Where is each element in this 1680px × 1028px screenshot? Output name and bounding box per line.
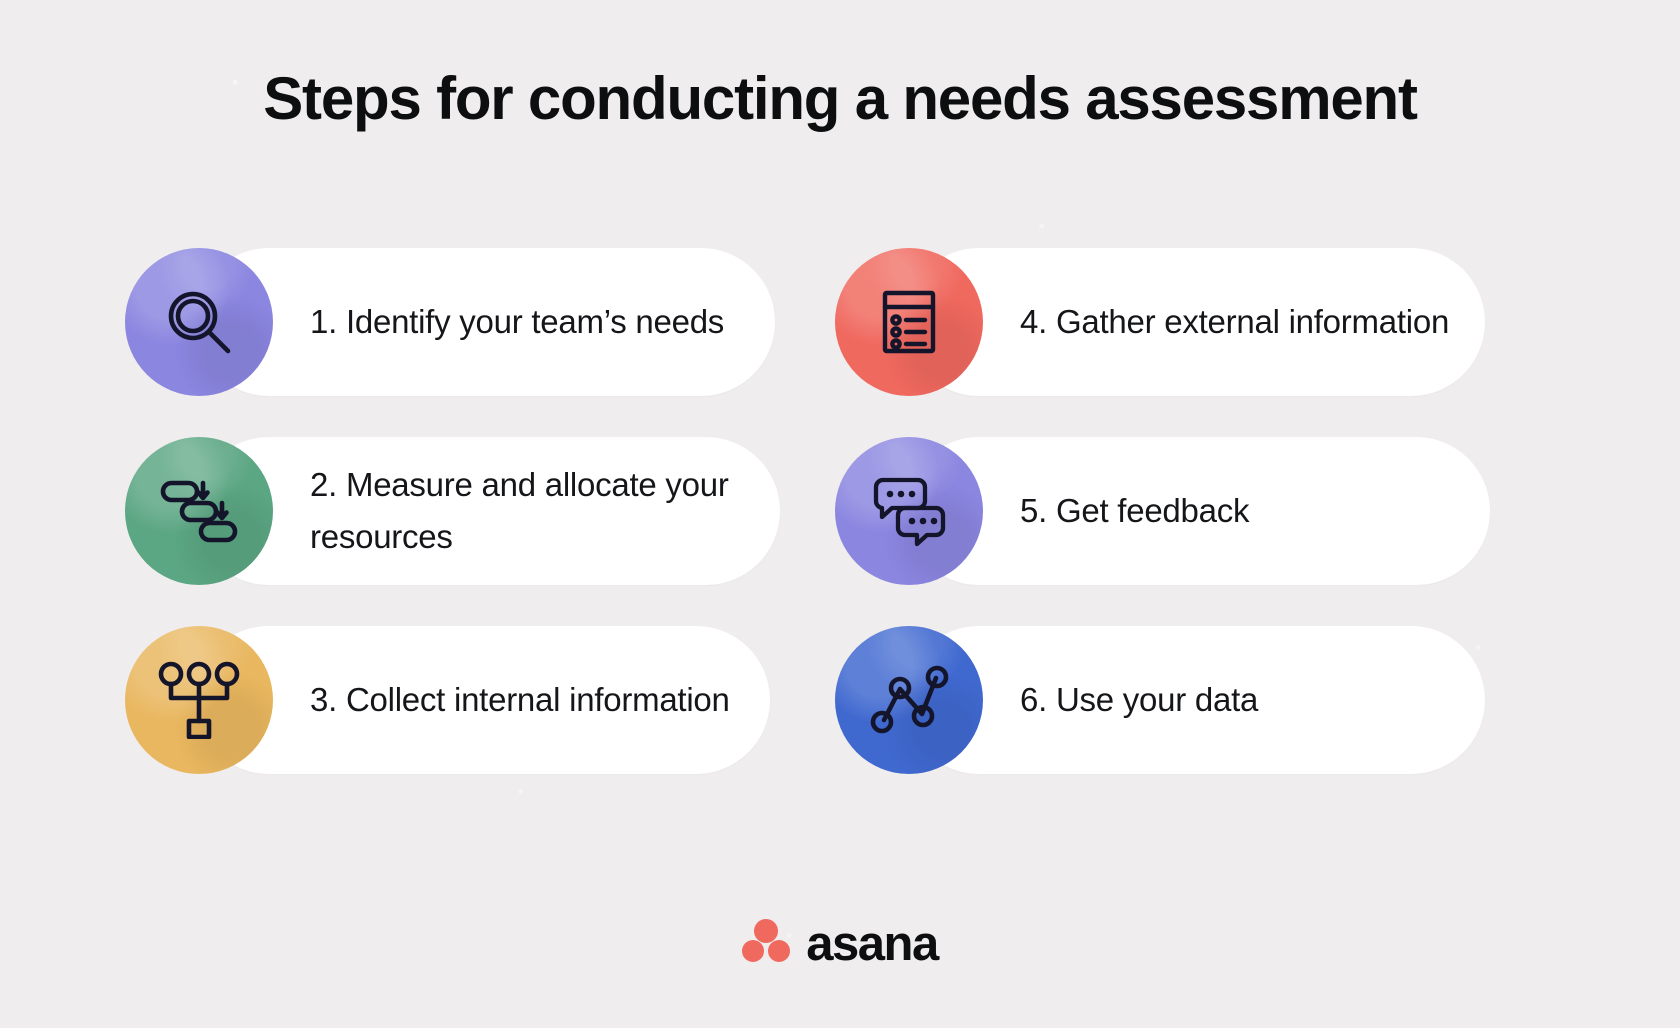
step-card-4-body: 4. Gather external information — [905, 248, 1485, 396]
step-card-6-text: Use your data — [1056, 681, 1258, 718]
step-card-3-text: Collect internal information — [346, 681, 730, 718]
step-card-1-text: Identify your team’s needs — [346, 303, 724, 340]
step-card-5-number: 5. — [1020, 492, 1047, 529]
step-card-6-badge — [835, 626, 983, 774]
step-card-6-body: 6. Use your data — [905, 626, 1485, 774]
asana-dots-icon — [742, 918, 790, 967]
step-card-5-badge — [835, 437, 983, 585]
checklist-clipboard-icon — [872, 285, 946, 359]
step-card-2[interactable]: 2. Measure and allocate your resources — [125, 437, 780, 585]
step-card-5-body: 5. Get feedback — [905, 437, 1490, 585]
step-card-4-text: Gather external information — [1056, 303, 1449, 340]
step-card-2-badge — [125, 437, 273, 585]
workflow-cascade-icon — [159, 473, 239, 549]
step-card-6-number: 6. — [1020, 681, 1047, 718]
step-card-3-body: 3. Collect internal information — [195, 626, 770, 774]
step-card-2-label: 2. Measure and allocate your resources — [195, 459, 780, 563]
data-points-line-icon — [869, 663, 949, 737]
step-card-1-label: 1. Identify your team’s needs — [195, 296, 750, 348]
magnifier-icon — [160, 283, 238, 361]
page-title: Steps for conducting a needs assessment — [0, 66, 1680, 132]
asana-wordmark: asana — [806, 920, 937, 969]
org-chart-nodes-icon — [158, 661, 240, 739]
step-card-4-badge — [835, 248, 983, 396]
step-card-5[interactable]: 5. Get feedback — [835, 437, 1490, 585]
step-card-3-number: 3. — [310, 681, 337, 718]
step-card-1-badge — [125, 248, 273, 396]
step-card-2-body: 2. Measure and allocate your resources — [195, 437, 780, 585]
speech-bubbles-icon — [868, 473, 950, 549]
infographic-page: Steps for conducting a needs assessment … — [0, 0, 1680, 1028]
step-card-1-body: 1. Identify your team’s needs — [195, 248, 775, 396]
step-card-3-label: 3. Collect internal information — [195, 674, 756, 726]
step-card-1[interactable]: 1. Identify your team’s needs — [125, 248, 780, 396]
step-card-1-number: 1. — [310, 303, 337, 340]
step-card-3[interactable]: 3. Collect internal information — [125, 626, 780, 774]
step-card-4[interactable]: 4. Gather external information — [835, 248, 1490, 396]
step-card-6[interactable]: 6. Use your data — [835, 626, 1490, 774]
step-card-5-text: Get feedback — [1056, 492, 1249, 529]
step-card-2-number: 2. — [310, 466, 337, 503]
step-card-2-text: Measure and allocate your resources — [310, 466, 729, 555]
asana-logo: asana — [0, 918, 1680, 967]
step-card-4-label: 4. Gather external information — [905, 296, 1475, 348]
steps-grid: 1. Identify your team’s needs 4. — [125, 248, 1550, 774]
step-card-4-number: 4. — [1020, 303, 1047, 340]
step-card-3-badge — [125, 626, 273, 774]
